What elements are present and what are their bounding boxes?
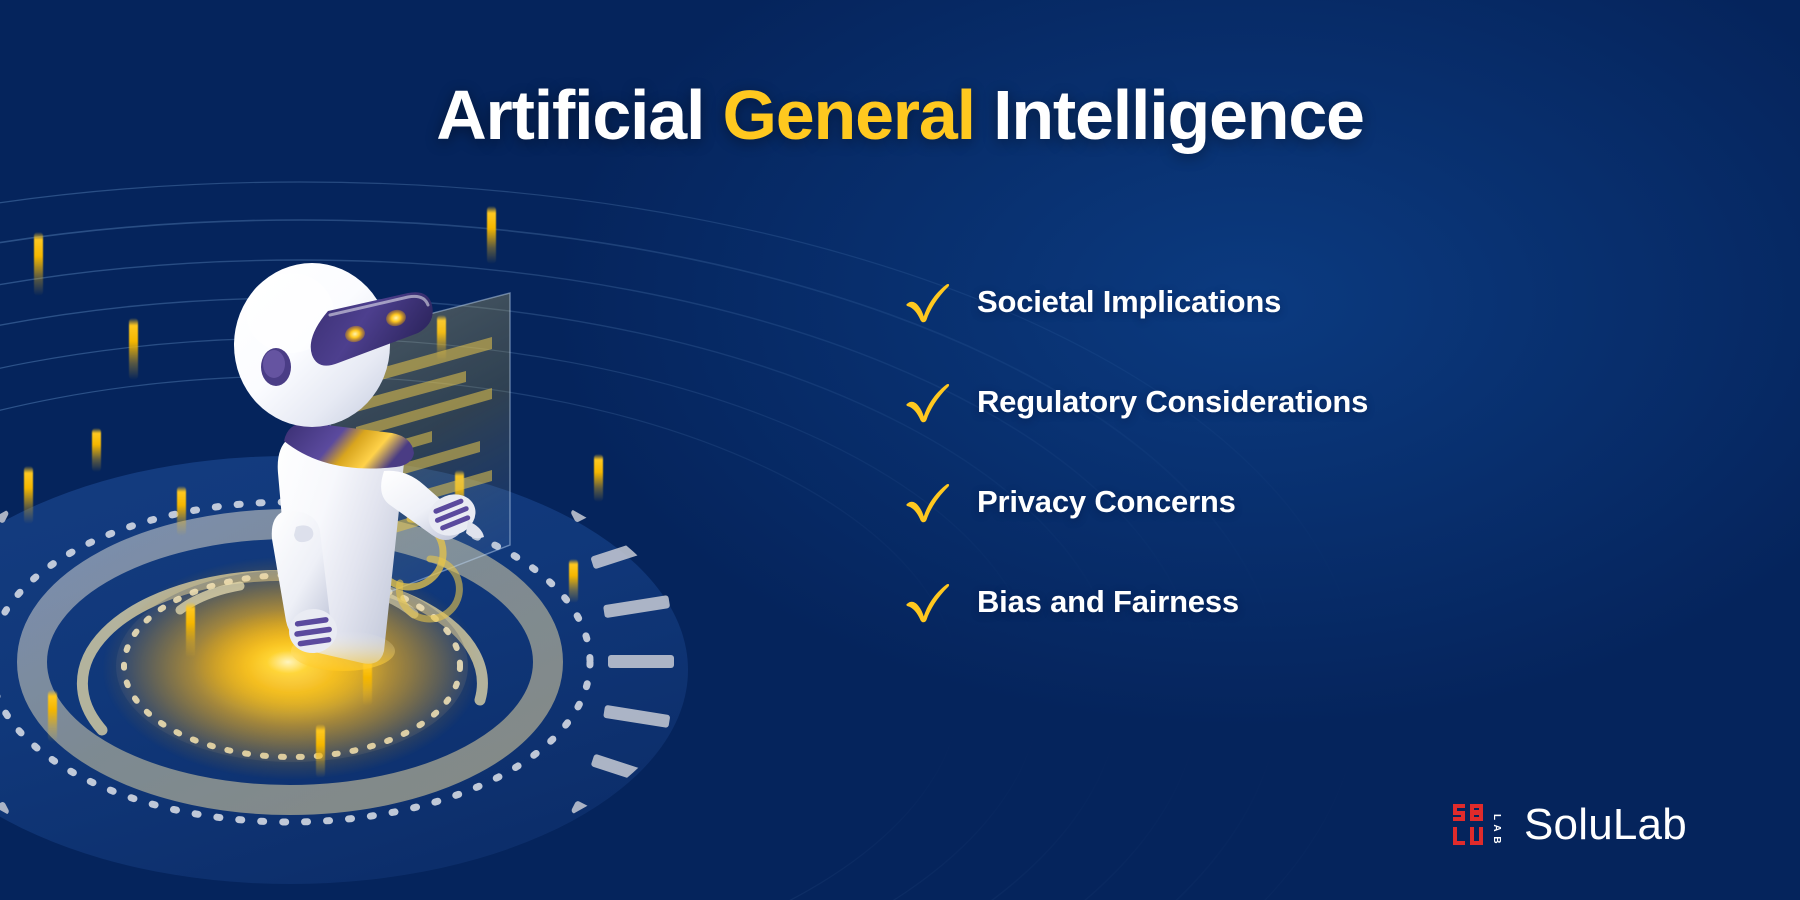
check-icon: [905, 274, 977, 330]
light-beam: [177, 486, 186, 536]
title-accent-word: General: [723, 76, 975, 154]
robot-visor: [311, 292, 433, 365]
light-beam: [363, 660, 372, 706]
robot-ear-port: [261, 348, 291, 386]
check-icon: [905, 574, 977, 630]
svg-text:L: L: [1491, 814, 1502, 820]
list-item: Privacy Concerns: [905, 452, 1645, 552]
holographic-screen-panel: [330, 293, 510, 619]
check-icon: [905, 474, 977, 530]
robot-left-arm: [272, 511, 340, 656]
light-beam: [316, 724, 325, 778]
list-item: Societal Implications: [905, 252, 1645, 352]
robot-eye-left: [343, 324, 366, 344]
light-beam: [92, 428, 101, 472]
list-item: Bias and Fairness: [905, 552, 1645, 652]
robot-eye-right: [384, 308, 407, 328]
feature-checklist: Societal Implications Regulatory Conside…: [905, 252, 1645, 652]
light-beam: [437, 315, 446, 361]
light-beam: [129, 318, 138, 380]
title-part-2: Intelligence: [975, 76, 1364, 154]
robot-head: [234, 263, 390, 427]
robot-right-arm: [381, 471, 484, 543]
logo-wordmark: SoluLab: [1524, 803, 1687, 847]
list-item-label: Privacy Concerns: [977, 484, 1236, 520]
svg-text:B: B: [1491, 836, 1502, 843]
agi-banner: Artificial General Intelligence Societal…: [0, 0, 1800, 900]
light-beam: [24, 466, 33, 524]
solulab-pixel-mark: L A B: [1452, 800, 1508, 850]
light-beam: [455, 470, 464, 520]
light-beam: [48, 690, 57, 742]
solulab-logo[interactable]: L A B SoluLab: [1452, 800, 1687, 850]
title-part-1: Artificial: [436, 76, 722, 154]
light-beam: [34, 232, 43, 296]
list-item: Regulatory Considerations: [905, 352, 1645, 452]
robot-collar: [284, 423, 414, 469]
light-beam: [594, 454, 603, 502]
check-icon: [905, 374, 977, 430]
list-item-label: Regulatory Considerations: [977, 384, 1368, 420]
list-item-label: Bias and Fairness: [977, 584, 1239, 620]
page-title: Artificial General Intelligence: [0, 78, 1800, 152]
svg-text:A: A: [1491, 824, 1502, 831]
light-beam: [288, 556, 297, 596]
light-beam: [186, 602, 195, 658]
list-item-label: Societal Implications: [977, 284, 1281, 320]
light-beam: [569, 559, 578, 603]
white-humanoid-robot: [180, 215, 600, 675]
light-beam: [487, 206, 496, 264]
